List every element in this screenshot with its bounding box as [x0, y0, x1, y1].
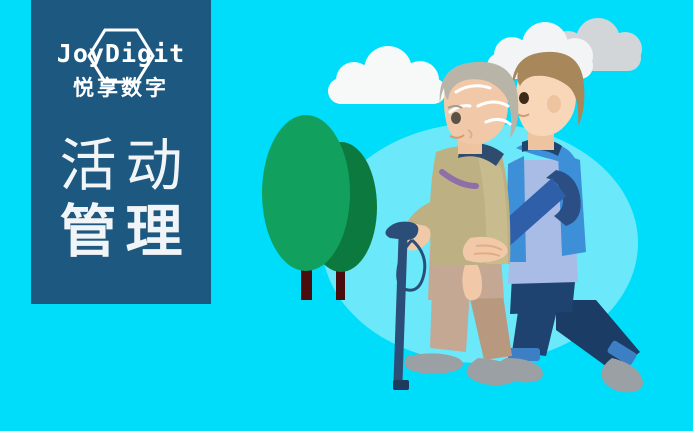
page-title-line2: 管理 [41, 199, 201, 265]
poster-canvas: JoyDigit 悦享数字 活动 管理 [0, 0, 693, 431]
page-title: 活动 管理 [41, 133, 201, 265]
page-title-line1: 活动 [41, 133, 201, 199]
brand-panel: JoyDigit 悦享数字 活动 管理 [31, 0, 211, 304]
logo-wordmark: JoyDigit [46, 38, 196, 70]
cloud-left [328, 46, 446, 104]
logo-block: JoyDigit 悦享数字 [46, 27, 196, 113]
logo-chinese-name: 悦享数字 [46, 76, 196, 102]
